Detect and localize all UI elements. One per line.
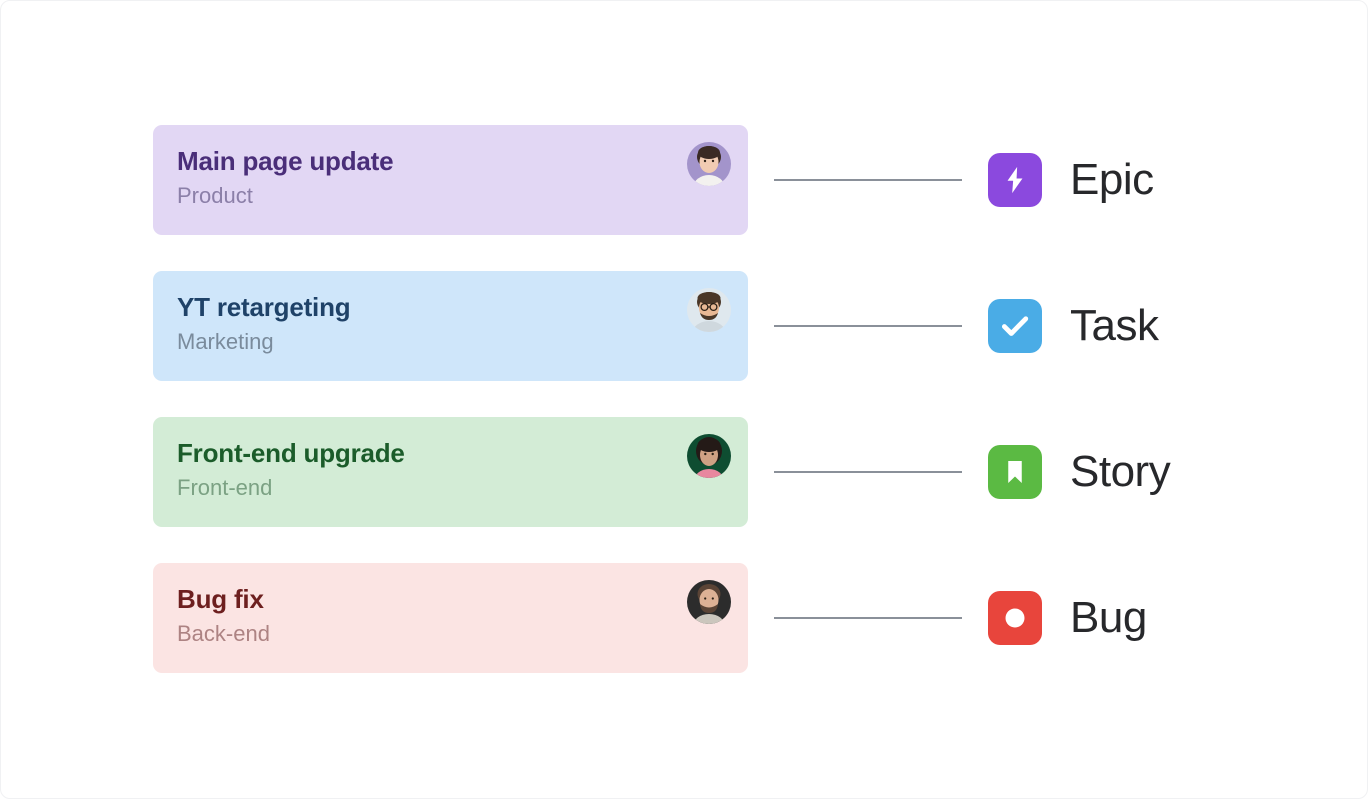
issue-type-legend: Epic Task Story [774,125,1170,673]
legend-row-task: Task [774,271,1170,381]
legend-label: Bug [1070,591,1147,645]
issue-type-legend-page: Main page update Product YT retargeting … [0,0,1368,799]
issue-card-title: Main page update [177,145,724,177]
issue-card-subtitle: Back-end [177,619,724,649]
legend-row-bug: Bug [774,563,1170,673]
checkmark-icon[interactable] [988,299,1042,353]
issue-card-task[interactable]: YT retargeting Marketing [153,271,748,381]
bookmark-icon[interactable] [988,445,1042,499]
issue-card-title: YT retargeting [177,291,724,323]
connector-line [774,325,962,327]
connector-line [774,179,962,181]
issue-card-subtitle: Front-end [177,473,724,503]
avatar[interactable] [687,580,731,624]
avatar[interactable] [687,142,731,186]
legend-label: Task [1070,299,1158,353]
issue-card-bug[interactable]: Bug fix Back-end [153,563,748,673]
circle-dot-icon[interactable] [988,591,1042,645]
legend-label: Epic [1070,153,1154,207]
issue-card-title: Front-end upgrade [177,437,724,469]
legend-label: Story [1070,445,1170,499]
issue-card-subtitle: Marketing [177,327,724,357]
issue-card-epic[interactable]: Main page update Product [153,125,748,235]
avatar[interactable] [687,288,731,332]
connector-line [774,471,962,473]
legend-row-epic: Epic [774,125,1170,235]
issue-card-subtitle: Product [177,181,724,211]
issue-card-story[interactable]: Front-end upgrade Front-end [153,417,748,527]
issue-card-title: Bug fix [177,583,724,615]
connector-line [774,617,962,619]
avatar[interactable] [687,434,731,478]
issue-card-list: Main page update Product YT retargeting … [153,125,748,673]
lightning-bolt-icon[interactable] [988,153,1042,207]
legend-row-story: Story [774,417,1170,527]
